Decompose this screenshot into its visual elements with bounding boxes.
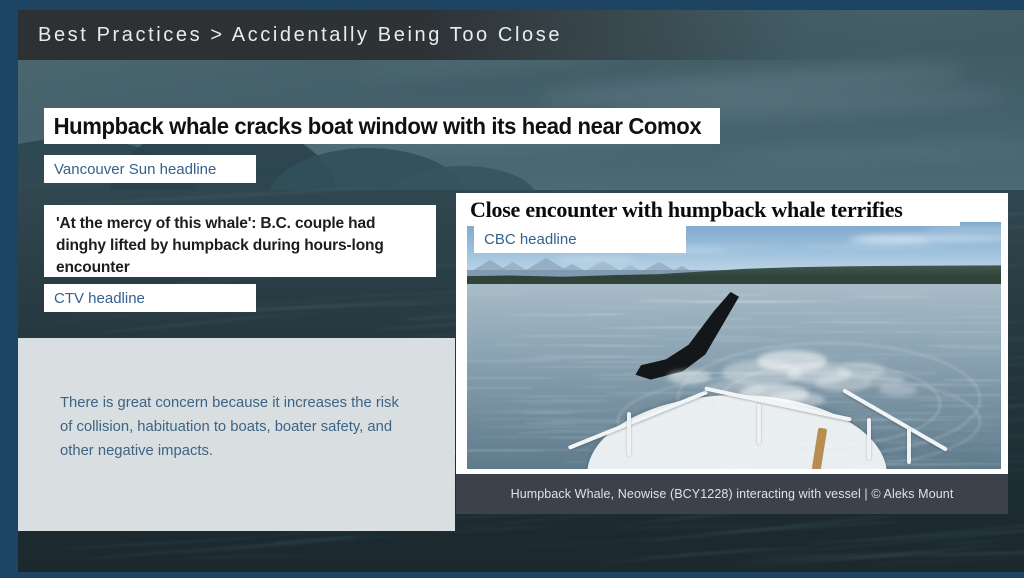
slide-canvas: Best Practices > Accidentally Being Too … <box>0 0 1024 578</box>
photo-water-ripple <box>577 356 677 358</box>
photo-water-ripple <box>467 377 558 379</box>
headline-card-ctv: 'At the mercy of this whale': B.C. coupl… <box>44 205 436 277</box>
source-label-text: CBC headline <box>474 231 577 248</box>
photo-water-ripple <box>929 334 1001 336</box>
railing-stanchion <box>867 418 871 460</box>
source-label-text: CTV headline <box>44 290 145 307</box>
whale-photo-image <box>467 222 1001 469</box>
photo-water-ripple <box>521 396 569 398</box>
photo-water-ripple <box>969 311 1001 313</box>
photo-water-ripple <box>922 305 1001 307</box>
headline-text-vancouver-sun: Humpback whale cracks boat window with i… <box>44 113 701 140</box>
water-ripple <box>60 186 375 206</box>
photo-cloud <box>556 256 637 263</box>
photo-water-ripple <box>512 335 662 337</box>
photo-water-ripple <box>467 387 534 389</box>
photo-caption-text: Humpback Whale, Neowise (BCY1228) intera… <box>511 487 954 501</box>
frame-left-border <box>0 0 18 578</box>
photo-water-ripple <box>595 378 671 380</box>
photo-water-ripple <box>482 426 620 428</box>
water-ripple <box>494 535 701 550</box>
photo-water-ripple <box>522 402 603 404</box>
headline-text-cbc: Close encounter with humpback whale terr… <box>462 197 903 223</box>
body-paragraph: There is great concern because it increa… <box>60 392 410 464</box>
railing-stanchion <box>627 412 631 456</box>
source-label-vancouver-sun: Vancouver Sun headline <box>44 155 256 183</box>
source-label-ctv: CTV headline <box>44 284 256 312</box>
photo-water-ripple <box>710 294 767 296</box>
breadcrumb: Best Practices > Accidentally Being Too … <box>38 10 562 60</box>
railing-stanchion <box>757 404 761 444</box>
headline-card-vancouver-sun: Humpback whale cracks boat window with i… <box>44 108 720 144</box>
wake-ring <box>617 372 981 469</box>
photo-water-ripple <box>555 307 701 309</box>
photo-water-ripple <box>488 344 536 346</box>
source-label-text: Vancouver Sun headline <box>44 161 216 178</box>
photo-water-ripple <box>735 312 893 314</box>
source-label-cbc: CBC headline <box>474 225 686 253</box>
photo-water-ripple <box>806 318 974 320</box>
photo-cloud <box>801 245 949 248</box>
photo-caption-bar: Humpback Whale, Neowise (BCY1228) intera… <box>456 474 1008 514</box>
photo-water-ripple <box>469 455 542 457</box>
photo-water-ripple <box>521 412 577 414</box>
photo-water-ripple <box>584 345 668 347</box>
water-ripple <box>175 534 400 556</box>
railing-stanchion <box>907 428 911 464</box>
headline-text-ctv: 'At the mercy of this whale': B.C. coupl… <box>56 213 424 279</box>
photo-water-ripple <box>481 395 661 397</box>
photo-water-ripple <box>467 294 523 296</box>
title-band: Best Practices > Accidentally Being Too … <box>18 10 1024 60</box>
photo-water-ripple <box>847 296 930 298</box>
photo-water-ripple <box>516 432 550 434</box>
frame-top-border <box>0 0 1024 10</box>
frame-bottom-border <box>0 572 1024 578</box>
photo-water-ripple <box>578 386 624 388</box>
water-ripple <box>183 554 308 559</box>
headline-card-cbc: Close encounter with humpback whale terr… <box>462 194 960 226</box>
photo-water-ripple <box>505 314 620 316</box>
photo-water-ripple <box>624 316 660 318</box>
photo-cloud <box>854 234 1001 241</box>
photo-water-ripple <box>467 360 559 362</box>
